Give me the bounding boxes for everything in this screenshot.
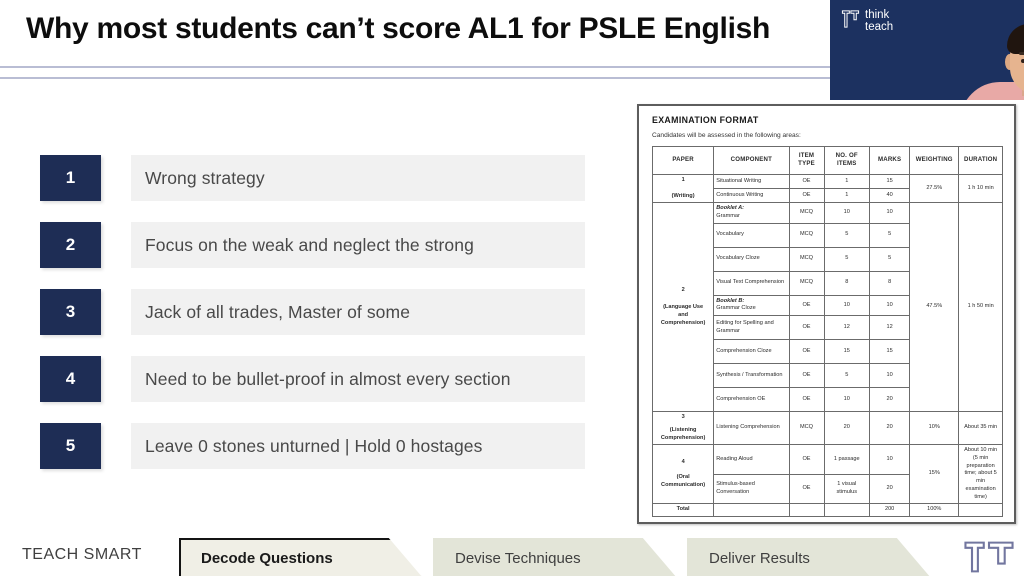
bottom-process-bar: TEACH SMART Decode Questions Devise Tech… [0, 534, 1024, 576]
logo-line-think: think [865, 9, 893, 21]
cell-marks: 20 [870, 474, 910, 504]
reasons-list: 1 Wrong strategy 2 Focus on the weak and… [40, 155, 585, 490]
slide-canvas: Why most students can’t score AL1 for PS… [0, 0, 1024, 576]
cell-paper-number: 2 (Language Use and Comprehension) [653, 203, 714, 412]
cell-marks: 8 [870, 271, 910, 295]
col-item-type-l1: ITEM [791, 152, 823, 160]
cell-duration: About 35 min [959, 412, 1003, 445]
cell-component: Editing for Spelling and Grammar [714, 316, 789, 340]
presenter-hair [1007, 24, 1024, 54]
paper-number: 3 [655, 414, 711, 422]
list-item-number: 2 [40, 222, 101, 268]
process-step-label: Decode Questions [179, 550, 333, 567]
paper-number: 4 [655, 459, 711, 467]
cell-no-items: 20 [824, 412, 870, 445]
cell-item-type: OE [789, 474, 824, 504]
col-no-items-l1: NO. OF [826, 152, 869, 160]
table-row: 4 (Oral Communication) Reading Aloud OE … [653, 445, 1003, 475]
cell-marks: 40 [870, 189, 910, 203]
exam-format-subheading: Candidates will be assessed in the follo… [652, 132, 1003, 139]
table-row-total: Total 200 100% [653, 504, 1003, 517]
cell-marks: 15 [870, 340, 910, 364]
cell-empty [714, 504, 789, 517]
list-item-number: 4 [40, 356, 101, 402]
cell-component: Comprehension OE [714, 388, 789, 412]
cell-component: Synthesis / Transformation [714, 364, 789, 388]
cell-item-type: MCQ [789, 223, 824, 247]
list-item: 4 Need to be bullet-proof in almost ever… [40, 356, 585, 402]
cell-weighting: 15% [910, 445, 959, 504]
cell-component: Booklet B: Grammar Cloze [714, 295, 789, 315]
cell-no-items: 5 [824, 364, 870, 388]
cell-component: Situational Writing [714, 174, 789, 188]
cell-marks: 5 [870, 223, 910, 247]
cell-marks: 15 [870, 174, 910, 188]
list-item-label: Jack of all trades, Master of some [131, 289, 585, 335]
cell-component: Continuous Writing [714, 189, 789, 203]
cell-marks: 20 [870, 412, 910, 445]
cell-item-type: MCQ [789, 271, 824, 295]
cell-item-type: MCQ [789, 412, 824, 445]
cell-no-items: 1 [824, 189, 870, 203]
cell-no-items: 8 [824, 271, 870, 295]
list-item-number: 1 [40, 155, 101, 201]
list-item-label: Leave 0 stones unturned | Hold 0 hostage… [131, 423, 585, 469]
cell-marks: 10 [870, 203, 910, 223]
cell-empty [789, 504, 824, 517]
list-item-label: Focus on the weak and neglect the strong [131, 222, 585, 268]
cell-item-type: OE [789, 340, 824, 364]
cell-no-items: 10 [824, 203, 870, 223]
cell-marks: 10 [870, 364, 910, 388]
cell-item-type: OE [789, 189, 824, 203]
cell-marks: 10 [870, 295, 910, 315]
corner-think-teach-icon [962, 540, 1016, 574]
paper-name-l2: Comprehension) [655, 435, 711, 443]
cell-no-items: 10 [824, 295, 870, 315]
cell-marks: 5 [870, 247, 910, 271]
cell-component: Reading Aloud [714, 445, 789, 475]
logo-line-teach: teach [865, 21, 893, 33]
paper-name: (Writing) [655, 193, 711, 201]
paper-name-l1: (Listening [655, 427, 711, 435]
col-no-items-l2: ITEMS [826, 160, 869, 168]
webcam-overlay[interactable]: think teach [830, 0, 1024, 100]
paper-name-l1: (Language Use [655, 304, 711, 312]
list-item: 2 Focus on the weak and neglect the stro… [40, 222, 585, 268]
table-row: 1 (Writing) Situational Writing OE 1 15 … [653, 174, 1003, 188]
cell-duration: 1 h 50 min [959, 203, 1003, 412]
cell-total-weighting: 100% [910, 504, 959, 517]
component-label: Grammar Cloze [716, 305, 786, 313]
cell-marks: 20 [870, 388, 910, 412]
process-step-devise-techniques[interactable]: Devise Techniques [433, 538, 677, 576]
table-row: 3 (Listening Comprehension) Listening Co… [653, 412, 1003, 445]
cell-component: Vocabulary Cloze [714, 247, 789, 271]
cell-no-items: 1 visual stimulus [824, 474, 870, 504]
process-step-decode-questions[interactable]: Decode Questions [179, 538, 423, 576]
table-row: 2 (Language Use and Comprehension) Bookl… [653, 203, 1003, 223]
paper-name-l3: Comprehension) [655, 320, 711, 328]
component-label: Grammar [716, 213, 786, 221]
list-item-number: 5 [40, 423, 101, 469]
list-item: 5 Leave 0 stones unturned | Hold 0 hosta… [40, 423, 585, 469]
col-weighting: WEIGHTING [910, 147, 959, 175]
presenter-shoulders [960, 82, 1024, 100]
cell-component: Vocabulary [714, 223, 789, 247]
cell-component: Visual Text Comprehension [714, 271, 789, 295]
cell-item-type: OE [789, 445, 824, 475]
cell-item-type: OE [789, 388, 824, 412]
cell-no-items: 1 passage [824, 445, 870, 475]
cell-component: Stimulus-based Conversation [714, 474, 789, 504]
process-step-label: Deliver Results [687, 550, 810, 567]
cell-item-type: OE [789, 295, 824, 315]
paper-name-l2: Communication) [655, 482, 711, 490]
cell-total-marks: 200 [870, 504, 910, 517]
brand-label: TEACH SMART [22, 546, 142, 564]
col-paper: PAPER [653, 147, 714, 175]
cell-empty [959, 504, 1003, 517]
list-item-number: 3 [40, 289, 101, 335]
booklet-label: Booklet A: [716, 205, 786, 213]
cell-item-type: MCQ [789, 203, 824, 223]
list-item-label: Need to be bullet-proof in almost every … [131, 356, 585, 402]
cell-paper-number: 4 (Oral Communication) [653, 445, 714, 504]
cell-no-items: 5 [824, 223, 870, 247]
booklet-label: Booklet B: [716, 298, 786, 306]
cell-no-items: 1 [824, 174, 870, 188]
list-item-label: Wrong strategy [131, 155, 585, 201]
cell-no-items: 5 [824, 247, 870, 271]
col-component: COMPONENT [714, 147, 789, 175]
presenter-video [906, 12, 1024, 100]
list-item: 1 Wrong strategy [40, 155, 585, 201]
exam-format-heading: EXAMINATION FORMAT [652, 115, 1003, 125]
title-divider-bottom [0, 77, 832, 79]
paper-number: 2 [655, 287, 711, 295]
cell-duration: 1 h 10 min [959, 174, 1003, 202]
think-teach-logo: think teach [841, 9, 893, 34]
paper-number: 1 [655, 177, 711, 185]
paper-name-l2: and [655, 312, 711, 320]
cell-component: Listening Comprehension [714, 412, 789, 445]
cell-item-type: OE [789, 364, 824, 388]
cell-paper-number: 1 (Writing) [653, 174, 714, 202]
cell-marks: 10 [870, 445, 910, 475]
presenter-brow-left [1019, 52, 1024, 55]
process-step-deliver-results[interactable]: Deliver Results [687, 538, 931, 576]
cell-duration: About 10 min (5 min preparation time; ab… [959, 445, 1003, 504]
cell-weighting: 10% [910, 412, 959, 445]
cell-component: Booklet A: Grammar [714, 203, 789, 223]
cell-empty [824, 504, 870, 517]
table-header-row: PAPER COMPONENT ITEM TYPE NO. OF ITEMS M… [653, 147, 1003, 175]
cell-weighting: 47.5% [910, 203, 959, 412]
cell-weighting: 27.5% [910, 174, 959, 202]
think-teach-wordmark: think teach [865, 9, 893, 34]
col-duration: DURATION [959, 147, 1003, 175]
col-item-type-l2: TYPE [791, 160, 823, 168]
cell-paper-number: 3 (Listening Comprehension) [653, 412, 714, 445]
paper-name-l1: (Oral [655, 474, 711, 482]
col-no-items: NO. OF ITEMS [824, 147, 870, 175]
cell-total-label: Total [653, 504, 714, 517]
process-step-label: Devise Techniques [433, 550, 581, 567]
cell-marks: 12 [870, 316, 910, 340]
cell-component: Comprehension Cloze [714, 340, 789, 364]
title-divider-top [0, 66, 832, 68]
list-item: 3 Jack of all trades, Master of some [40, 289, 585, 335]
cell-item-type: MCQ [789, 247, 824, 271]
cell-no-items: 15 [824, 340, 870, 364]
exam-format-table: PAPER COMPONENT ITEM TYPE NO. OF ITEMS M… [652, 146, 1003, 517]
cell-item-type: OE [789, 316, 824, 340]
cell-no-items: 10 [824, 388, 870, 412]
col-marks: MARKS [870, 147, 910, 175]
cell-no-items: 12 [824, 316, 870, 340]
think-teach-mark-icon [841, 9, 860, 29]
page-title: Why most students can’t score AL1 for PS… [26, 12, 846, 46]
cell-item-type: OE [789, 174, 824, 188]
col-item-type: ITEM TYPE [789, 147, 824, 175]
examination-format-panel: EXAMINATION FORMAT Candidates will be as… [637, 104, 1016, 524]
